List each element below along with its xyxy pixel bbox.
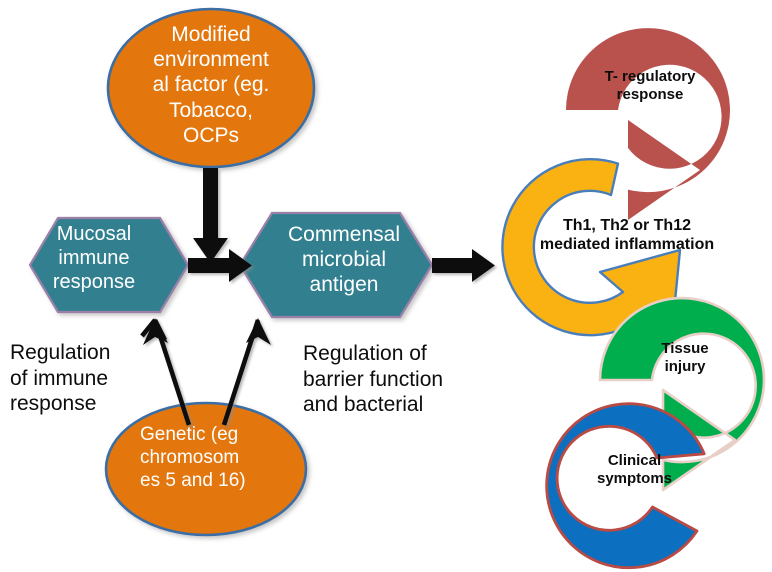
node-environmental-factor[interactable] [108, 9, 314, 167]
connector-commensal-to-cycles-arrow [432, 249, 495, 282]
connector-env-to-commensal-arrow [193, 168, 228, 263]
node-genetic[interactable] [106, 403, 306, 535]
caption-regulation-of-barrier-function: Regulation of barrier function and bacte… [303, 341, 488, 418]
cycle-tissue-injury-label: Tissue injury [630, 340, 740, 376]
node-commensal-microbial-antigen[interactable] [240, 213, 432, 317]
connector-mucosal-to-commensal-arrow [188, 249, 252, 282]
caption-regulation-of-immune-response: Regulation of immune response [10, 340, 160, 417]
node-mucosal-immune-response[interactable] [30, 218, 188, 312]
cycle-th-mediated-inflammation-label: Th1, Th2 or Th12 mediated inflammation [512, 216, 742, 254]
diagram-canvas: Modified environment al factor (eg. Toba… [0, 0, 772, 572]
cycle-clinical-symptoms-label: Clinical symptoms [562, 452, 707, 488]
cycle-t-regulatory-response-label: T- regulatory response [576, 68, 724, 104]
